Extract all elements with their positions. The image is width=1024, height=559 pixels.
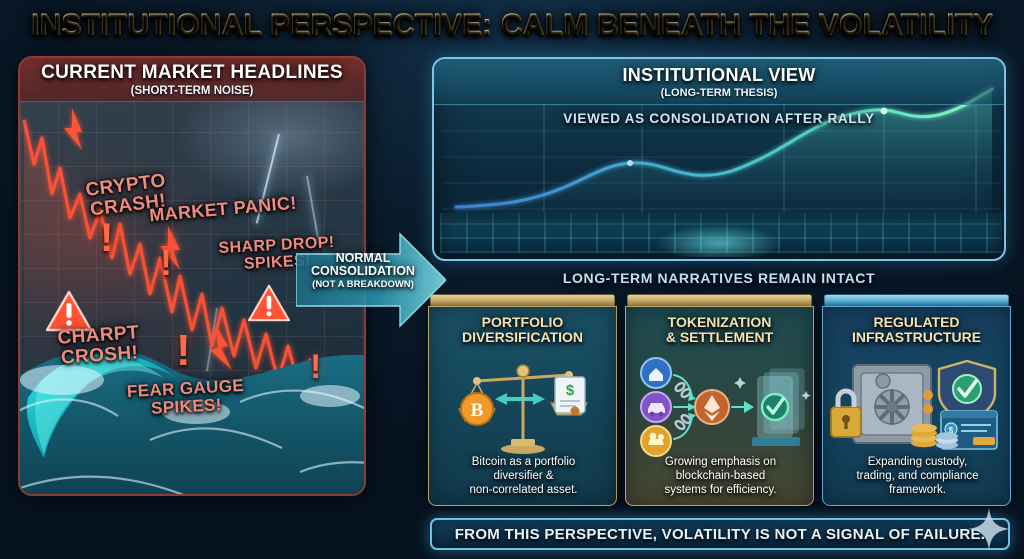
card-portfolio-diversification[interactable]: PORTFOLIO DIVERSIFICATION: [428, 294, 617, 506]
tokenization-chain-icon: [626, 351, 814, 461]
card-tokenization-settlement[interactable]: TOKENIZATION & SETTLEMENT: [625, 294, 814, 506]
exclamation-mark-icon: !: [310, 348, 321, 387]
exclamation-mark-icon: !: [100, 216, 113, 261]
card-body: TOKENIZATION & SETTLEMENT: [625, 306, 814, 506]
arrow-label: NORMAL CONSOLIDATION (NOT A BREAKDOWN): [302, 252, 424, 290]
chart-caption: VIEWED AS CONSOLIDATION AFTER RALLY: [434, 111, 1004, 126]
exclamation-mark-icon: !: [160, 242, 172, 284]
left-panel-heading: CURRENT MARKET HEADLINES: [41, 62, 343, 84]
card-title: PORTFOLIO DIVERSIFICATION: [429, 315, 616, 345]
svg-text:B: B: [471, 400, 484, 421]
right-panel-subheading: (LONG-TERM THESIS): [661, 87, 778, 99]
chart-plinth: [440, 213, 1002, 253]
narrative-cards: PORTFOLIO DIVERSIFICATION: [428, 294, 1012, 506]
arrow-label-line2: CONSOLIDATION: [302, 265, 424, 278]
svg-text:$: $: [566, 382, 575, 399]
card-caption: Expanding custody, trading, and complian…: [829, 455, 1006, 497]
card-body: PORTFOLIO DIVERSIFICATION: [428, 306, 617, 506]
right-panel-header: INSTITUTIONAL VIEW (LONG-TERM THESIS): [434, 59, 1004, 105]
card-title: TOKENIZATION & SETTLEMENT: [626, 315, 813, 345]
narrative-band: LONG-TERM NARRATIVES REMAIN INTACT: [432, 264, 1006, 292]
footer-banner: FROM THIS PERSPECTIVE, VOLATILITY IS NOT…: [430, 518, 1010, 550]
card-caption: Growing emphasis on blockchain-based sys…: [632, 455, 809, 497]
balance-scales-icon: B $: [429, 351, 617, 461]
exclamation-mark-icon: !: [176, 326, 191, 376]
card-caption: Bitcoin as a portfolio diversifier & non…: [435, 455, 612, 497]
card-body: REGULATED INFRASTRUCTURE: [822, 306, 1011, 506]
page-title-text: INSTITUTIONAL PERSPECTIVE: CALM BENEATH …: [31, 8, 993, 42]
left-panel-subheading: (SHORT-TERM NOISE): [131, 85, 254, 97]
vault-shield-icon: $: [823, 351, 1011, 461]
sparkle-icon: [966, 506, 1012, 552]
page-title: INSTITUTIONAL PERSPECTIVE: CALM BENEATH …: [0, 2, 1024, 48]
right-panel-heading: INSTITUTIONAL VIEW: [622, 65, 815, 86]
warning-triangle-icon: [248, 284, 290, 322]
card-regulated-infrastructure[interactable]: REGULATED INFRASTRUCTURE: [822, 294, 1011, 506]
institutional-view-panel: INSTITUTIONAL VIEW (LONG-TERM THESIS) VI…: [432, 57, 1006, 261]
footer-text: FROM THIS PERSPECTIVE, VOLATILITY IS NOT…: [455, 526, 986, 543]
arrow-label-line3: (NOT A BREAKDOWN): [302, 280, 424, 290]
card-title: REGULATED INFRASTRUCTURE: [823, 315, 1010, 345]
left-panel-header: CURRENT MARKET HEADLINES (SHORT-TERM NOI…: [20, 58, 364, 102]
